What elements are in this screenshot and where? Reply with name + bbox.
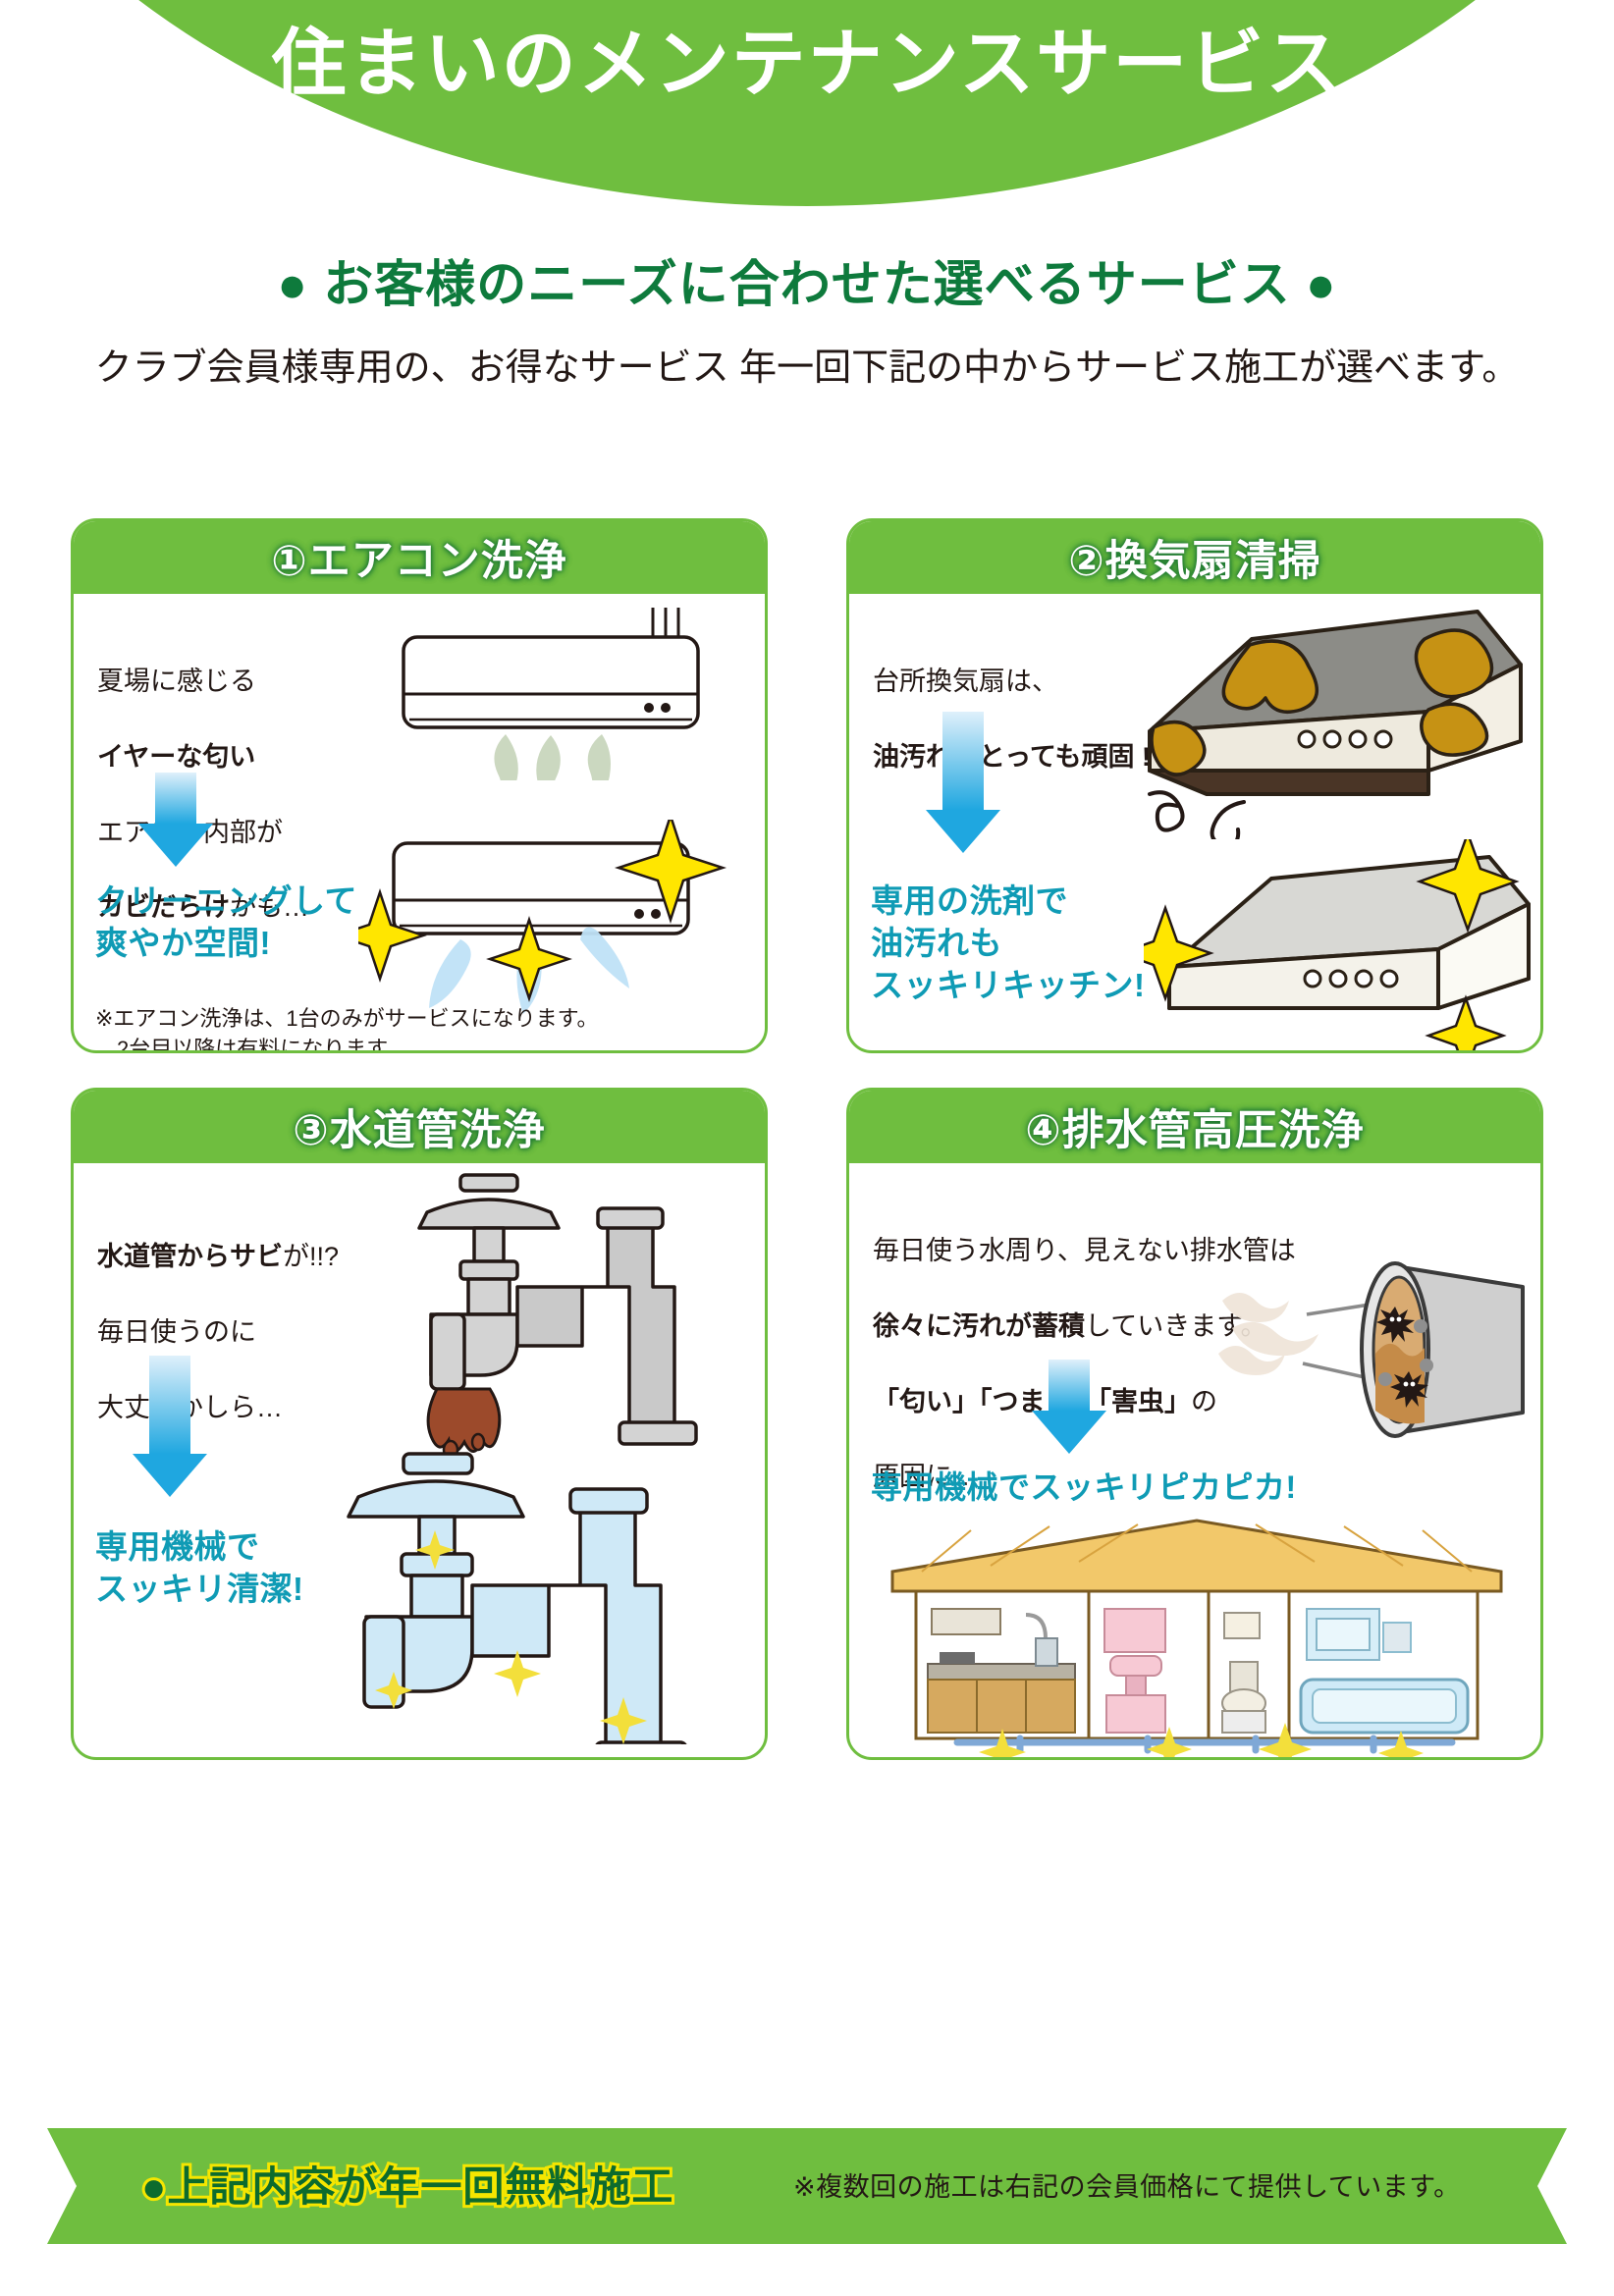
result-text: クリーニングして 爽やか空間!	[95, 881, 400, 965]
problem-line-1: 夏場に感じる	[97, 663, 392, 700]
card-title: ②換気扇清掃	[1068, 527, 1320, 588]
drain-pipe-dirty-icon	[1212, 1255, 1536, 1442]
card-body: 毎日使う水周り、見えない排水管は 徐々に汚れが蓄積していきます。 「匂い」「つま…	[849, 1163, 1540, 1757]
card-note: ※エアコン洗浄は、1台のみがサービスになります。 2台目以降は有料になります。	[95, 1004, 743, 1053]
card-body: 夏場に感じる イヤーな匂い エアコン内部が カビだらけかも…	[74, 594, 765, 1050]
card-title: ③水道管洗浄	[293, 1096, 545, 1157]
air-conditioner-dirty-icon	[358, 604, 751, 780]
problem-line-2: イヤーな匂い	[97, 738, 392, 775]
air-conditioner-clean-icon	[358, 820, 751, 1036]
down-arrow-icon	[138, 773, 213, 867]
range-hood-clean-icon	[1144, 839, 1543, 1053]
card-header: ①エアコン洗浄	[74, 521, 765, 594]
down-arrow-icon	[133, 1356, 207, 1503]
bottom-banner: ●上記内容が年一回無料施工 ※複数回の施工は右記の会員価格にて提供しています。	[47, 2128, 1567, 2244]
house-cutaway-clean-icon	[863, 1515, 1531, 1760]
card-header: ④排水管高圧洗浄	[849, 1091, 1540, 1163]
service-card-drain-pipe[interactable]: ④排水管高圧洗浄 毎日使う水周り、見えない排水管は 徐々に汚れが蓄積していきます…	[846, 1088, 1543, 1760]
down-arrow-icon	[926, 712, 1000, 859]
faucet-clean-icon	[309, 1440, 731, 1744]
result-text: 専用機械でスッキリピカピカ!	[871, 1468, 1538, 1509]
card-header: ②換気扇清掃	[849, 521, 1540, 594]
card-body: 台所換気扇は、 油汚れがとっても頑固 !!	[849, 594, 1540, 1050]
problem-line-1: 水道管からサビが!!?	[97, 1238, 431, 1275]
banner-main-text: ●上記内容が年一回無料施工	[141, 2154, 673, 2214]
card-header: ③水道管洗浄	[74, 1091, 765, 1163]
service-card-air-conditioner[interactable]: ①エアコン洗浄 夏場に感じる イヤーな匂い エアコン内部が カビだらけかも…	[71, 518, 768, 1053]
service-card-water-pipe[interactable]: ③水道管洗浄 水道管からサビが!!? 毎日使うのに 大丈夫かしら…	[71, 1088, 768, 1760]
subheading: ● お客様のニーズに合わせた選べるサービス ●	[0, 243, 1614, 316]
banner-sub-text: ※複数回の施工は右記の会員価格にて提供しています。	[793, 2165, 1461, 2204]
problem-line-2: 毎日使うのに	[97, 1313, 431, 1351]
card-body: 水道管からサビが!!? 毎日使うのに 大丈夫かしら…	[74, 1163, 765, 1757]
page-header: 住まいのメンテナンスサービス	[0, 0, 1614, 211]
down-arrow-icon	[1032, 1360, 1106, 1454]
range-hood-greasy-icon	[1134, 584, 1536, 839]
card-title: ①エアコン洗浄	[271, 527, 566, 588]
lead-text: クラブ会員様専用の、お得なサービス 年一回下記の中からサービス施工が選べます。	[0, 342, 1614, 396]
faucet-rusty-icon	[388, 1169, 751, 1454]
service-card-range-hood[interactable]: ②換気扇清掃 台所換気扇は、 油汚れがとっても頑固 !!	[846, 518, 1543, 1053]
page-title: 住まいのメンテナンスサービス	[0, 27, 1614, 102]
card-title: ④排水管高圧洗浄	[1025, 1096, 1364, 1157]
